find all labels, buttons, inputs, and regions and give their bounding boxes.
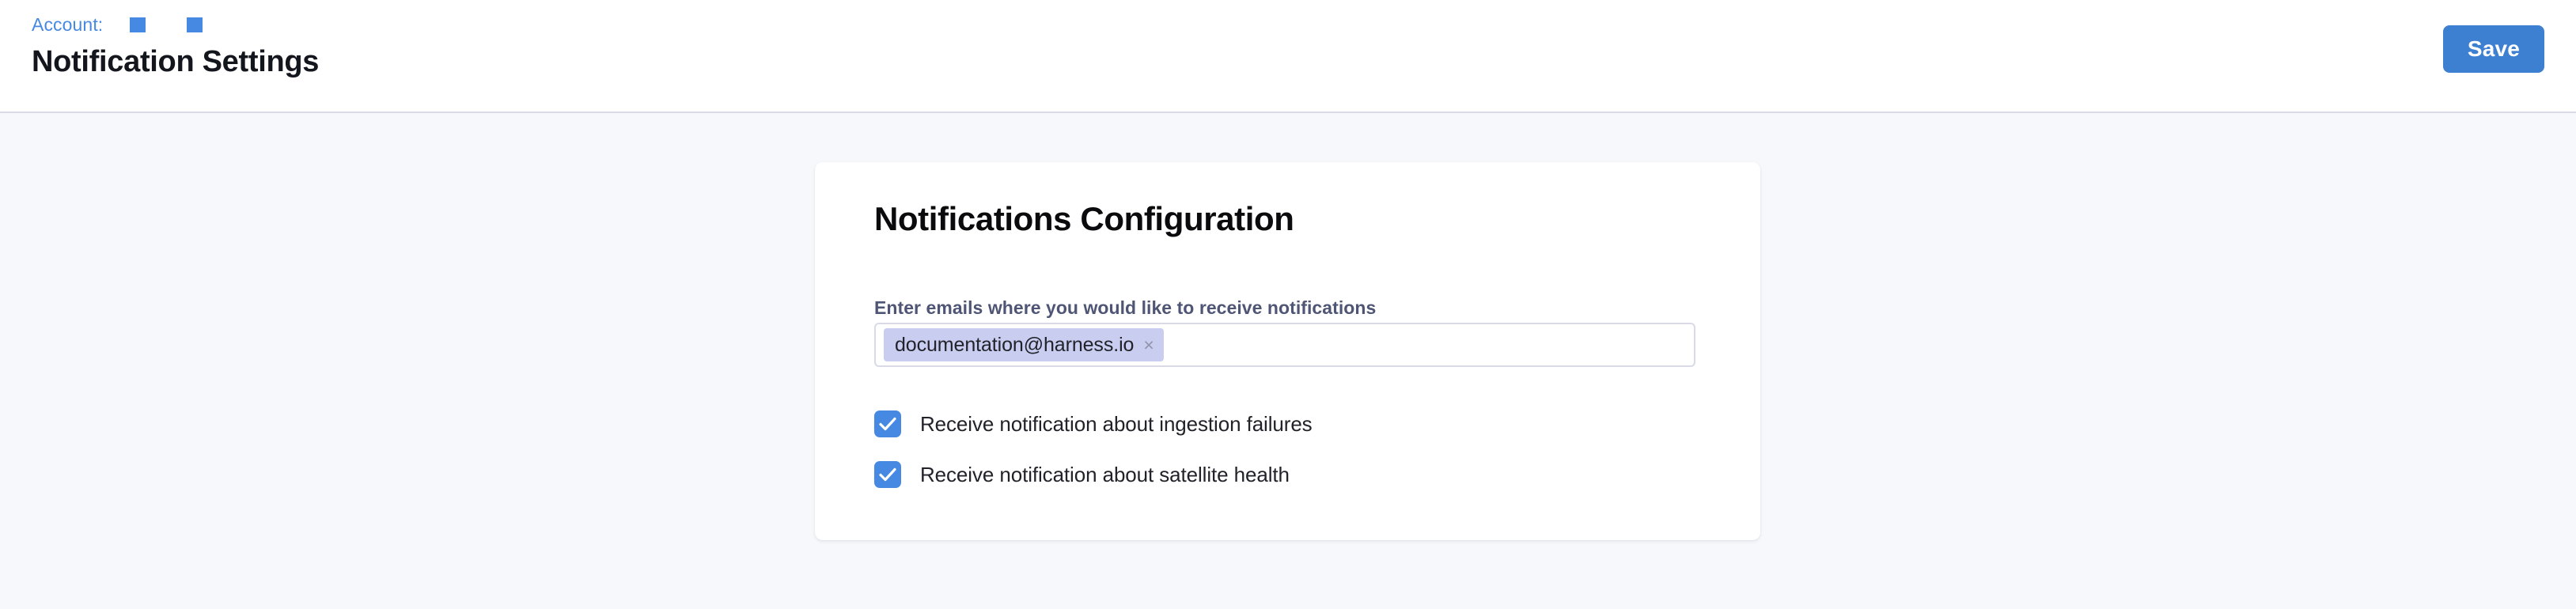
page-body: Notifications Configuration Enter emails… — [0, 113, 2576, 609]
close-icon[interactable]: × — [1143, 336, 1154, 354]
email-field-label: Enter emails where you would like to rec… — [874, 297, 1376, 319]
page-title: Notification Settings — [32, 43, 319, 80]
checkbox-label-satellite-health: Receive notification about satellite hea… — [920, 461, 1290, 488]
email-chip-label: documentation@harness.io — [895, 334, 1134, 357]
page-header: Account: Notification Settings Save — [0, 0, 2576, 113]
header-left-group: Account: Notification Settings — [32, 14, 319, 80]
checkbox-checked-icon[interactable] — [874, 461, 901, 488]
notification-settings-page: Account: Notification Settings Save Noti… — [0, 0, 2576, 609]
breadcrumb-redacted-block-2 — [187, 17, 203, 32]
breadcrumb-redacted-block-1 — [130, 17, 146, 32]
checkbox-row-satellite-health[interactable]: Receive notification about satellite hea… — [874, 461, 1290, 488]
checkbox-label-ingestion-failures: Receive notification about ingestion fai… — [920, 410, 1313, 437]
checkbox-checked-icon[interactable] — [874, 410, 901, 437]
breadcrumb-account-link[interactable]: Account: — [32, 14, 103, 35]
breadcrumb: Account: — [32, 14, 319, 35]
checkbox-row-ingestion-failures[interactable]: Receive notification about ingestion fai… — [874, 410, 1313, 437]
notifications-configuration-card: Notifications Configuration Enter emails… — [815, 162, 1760, 540]
save-button[interactable]: Save — [2443, 25, 2544, 73]
email-input[interactable]: documentation@harness.io × — [874, 323, 1695, 367]
email-chip[interactable]: documentation@harness.io × — [884, 328, 1164, 361]
card-title: Notifications Configuration — [874, 199, 1294, 239]
